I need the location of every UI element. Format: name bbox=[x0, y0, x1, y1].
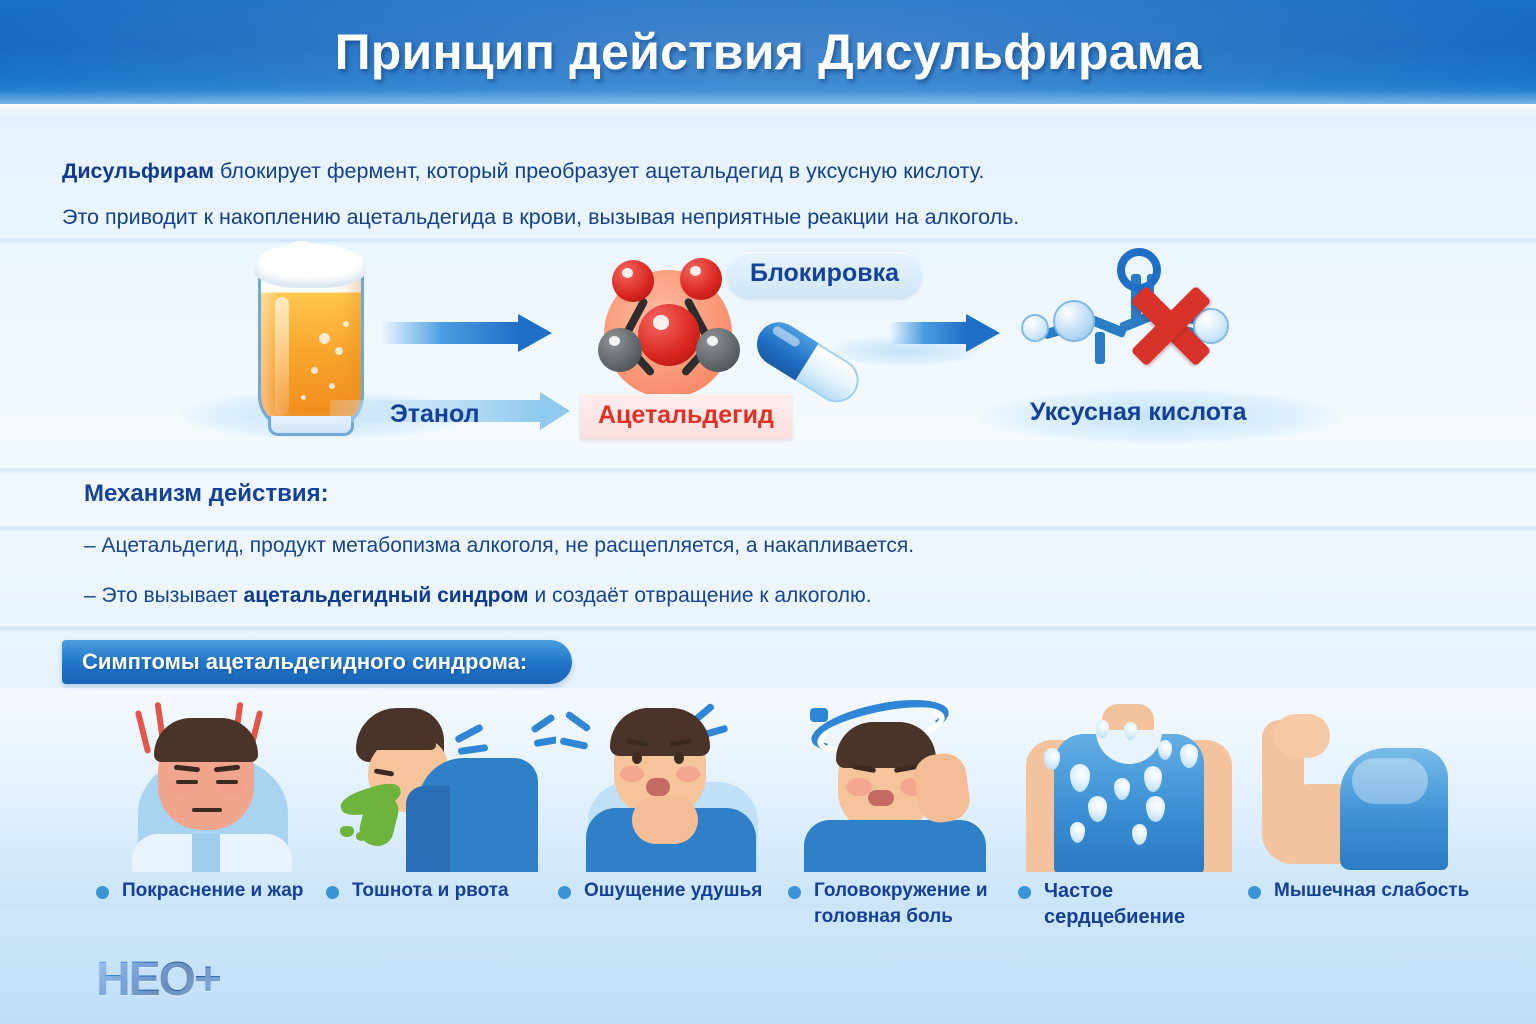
symptom-label-dizziness: Головокружение и головная боль bbox=[788, 878, 1018, 930]
mechanism-title: Механизм действия: bbox=[84, 480, 1384, 508]
flexed-arm-icon bbox=[1248, 692, 1478, 872]
arrow-to-acetic-acid bbox=[890, 314, 1000, 352]
mechanism-item-2: – Это вызывает ацетальдегидный синдром и… bbox=[84, 584, 1384, 608]
atom-node-2 bbox=[1053, 300, 1095, 342]
intro-line-1: Дисульфирам блокирует фермент, который п… bbox=[62, 148, 1322, 194]
atom-node-1 bbox=[1021, 314, 1049, 342]
arrow-ethanol-to-acetaldehyde bbox=[382, 314, 552, 352]
symptom-text: Ошущение удушья bbox=[584, 880, 762, 901]
symptom-text: Головокружение и головная боль bbox=[814, 880, 988, 927]
intro-line-1-rest: блокирует фермент, который преобразует а… bbox=[214, 159, 984, 183]
symptom-label-choking: Ошущение удушья bbox=[558, 878, 788, 904]
sweating-torso-icon bbox=[1018, 692, 1248, 872]
symptom-item-muscle-weakness[interactable]: Мышечная слабость bbox=[1248, 692, 1478, 904]
mechanism-section: Механизм действия: – Ацетальдегид, проду… bbox=[84, 480, 1384, 608]
symptoms-row: Покраснение и жар Тошнота и рвота bbox=[0, 688, 1536, 948]
page-header: Принцип действия Дисульфирама bbox=[0, 0, 1536, 104]
bullet-dot-icon bbox=[558, 886, 571, 899]
atom-hydrogen-right bbox=[696, 328, 740, 372]
label-acetic-acid: Уксусная кислота bbox=[1030, 398, 1247, 427]
atom-oxygen-left bbox=[612, 260, 654, 302]
bullet-dot-icon bbox=[788, 886, 801, 899]
acetic-acid-molecule-icon bbox=[985, 252, 1285, 402]
red-cross-blocked-icon bbox=[1125, 280, 1217, 372]
symptom-text: Тошнота и рвота bbox=[352, 880, 509, 901]
flushed-face-icon bbox=[96, 692, 326, 872]
intro-line-2: Это приводит к накоплению ацетальдегида … bbox=[62, 194, 1322, 240]
label-ethanol: Этанол bbox=[390, 400, 480, 429]
intro-drug-name: Дисульфирам bbox=[62, 159, 214, 183]
intro-text-block: Дисульфирам блокирует фермент, который п… bbox=[62, 148, 1322, 240]
label-acetaldehyde: Ацетальдегид bbox=[580, 394, 792, 439]
dizzy-person-icon bbox=[788, 692, 1018, 872]
mechanism-item-1: – Ацетальдегид, продукт метабопизма алко… bbox=[84, 534, 1384, 558]
symptom-item-palpitations[interactable]: Частое сердцебиение bbox=[1018, 692, 1248, 930]
symptom-item-dizziness[interactable]: Головокружение и головная боль bbox=[788, 692, 1018, 930]
symptom-item-flushing[interactable]: Покраснение и жар bbox=[96, 692, 326, 904]
brand-logo-text: НЕО+ bbox=[96, 953, 220, 1006]
symptom-label-flushing: Покраснение и жар bbox=[96, 878, 326, 904]
bullet-dot-icon bbox=[1018, 886, 1031, 899]
symptom-item-nausea[interactable]: Тошнота и рвота bbox=[326, 692, 556, 904]
atom-oxygen-right bbox=[680, 258, 722, 300]
blocking-badge: Блокировка bbox=[728, 252, 921, 297]
bullet-dot-icon bbox=[326, 886, 339, 899]
symptom-label-palpitations: Частое сердцебиение bbox=[1018, 878, 1248, 930]
bullet-dot-icon bbox=[96, 886, 109, 899]
divider-symptoms bbox=[0, 624, 1536, 632]
symptom-text: Частое сердцебиение bbox=[1044, 880, 1185, 928]
symptom-text: Мышечная слабость bbox=[1274, 880, 1469, 901]
mechanism-item-2-post: и создаёт отвращение к алкоголю. bbox=[529, 584, 872, 607]
mechanism-item-2-highlight: ацетальдегидный синдром bbox=[244, 584, 529, 607]
symptom-text: Покраснение и жар bbox=[122, 880, 303, 901]
atom-hydrogen-left bbox=[598, 328, 642, 372]
atom-carbon-center bbox=[638, 304, 700, 366]
bullet-dot-icon bbox=[1248, 886, 1261, 899]
brand-logo[interactable]: НЕО+ bbox=[96, 952, 220, 1007]
mechanism-item-2-pre: – Это вызывает bbox=[84, 584, 244, 607]
blocking-group: Блокировка bbox=[728, 252, 921, 297]
symptoms-banner: Симптомы ацетальдегидного синдрома: bbox=[62, 640, 572, 684]
symptom-label-nausea: Тошнота и рвота bbox=[326, 878, 556, 904]
page-title: Принцип действия Дисульфирама bbox=[0, 0, 1536, 104]
vomiting-person-icon bbox=[326, 692, 556, 872]
beer-foam bbox=[254, 244, 366, 288]
symptom-item-choking[interactable]: Ошущение удушья bbox=[558, 692, 788, 904]
symptom-label-muscle-weakness: Мышечная слабость bbox=[1248, 878, 1478, 904]
header-sheen bbox=[0, 104, 1536, 130]
divider-mechanism bbox=[0, 466, 1536, 474]
process-diagram: Блокировка Этанол Ацетальдегид Уксусная … bbox=[0, 240, 1536, 462]
symptoms-banner-label: Симптомы ацетальдегидного синдрома: bbox=[62, 640, 572, 684]
choking-person-icon bbox=[558, 692, 788, 872]
